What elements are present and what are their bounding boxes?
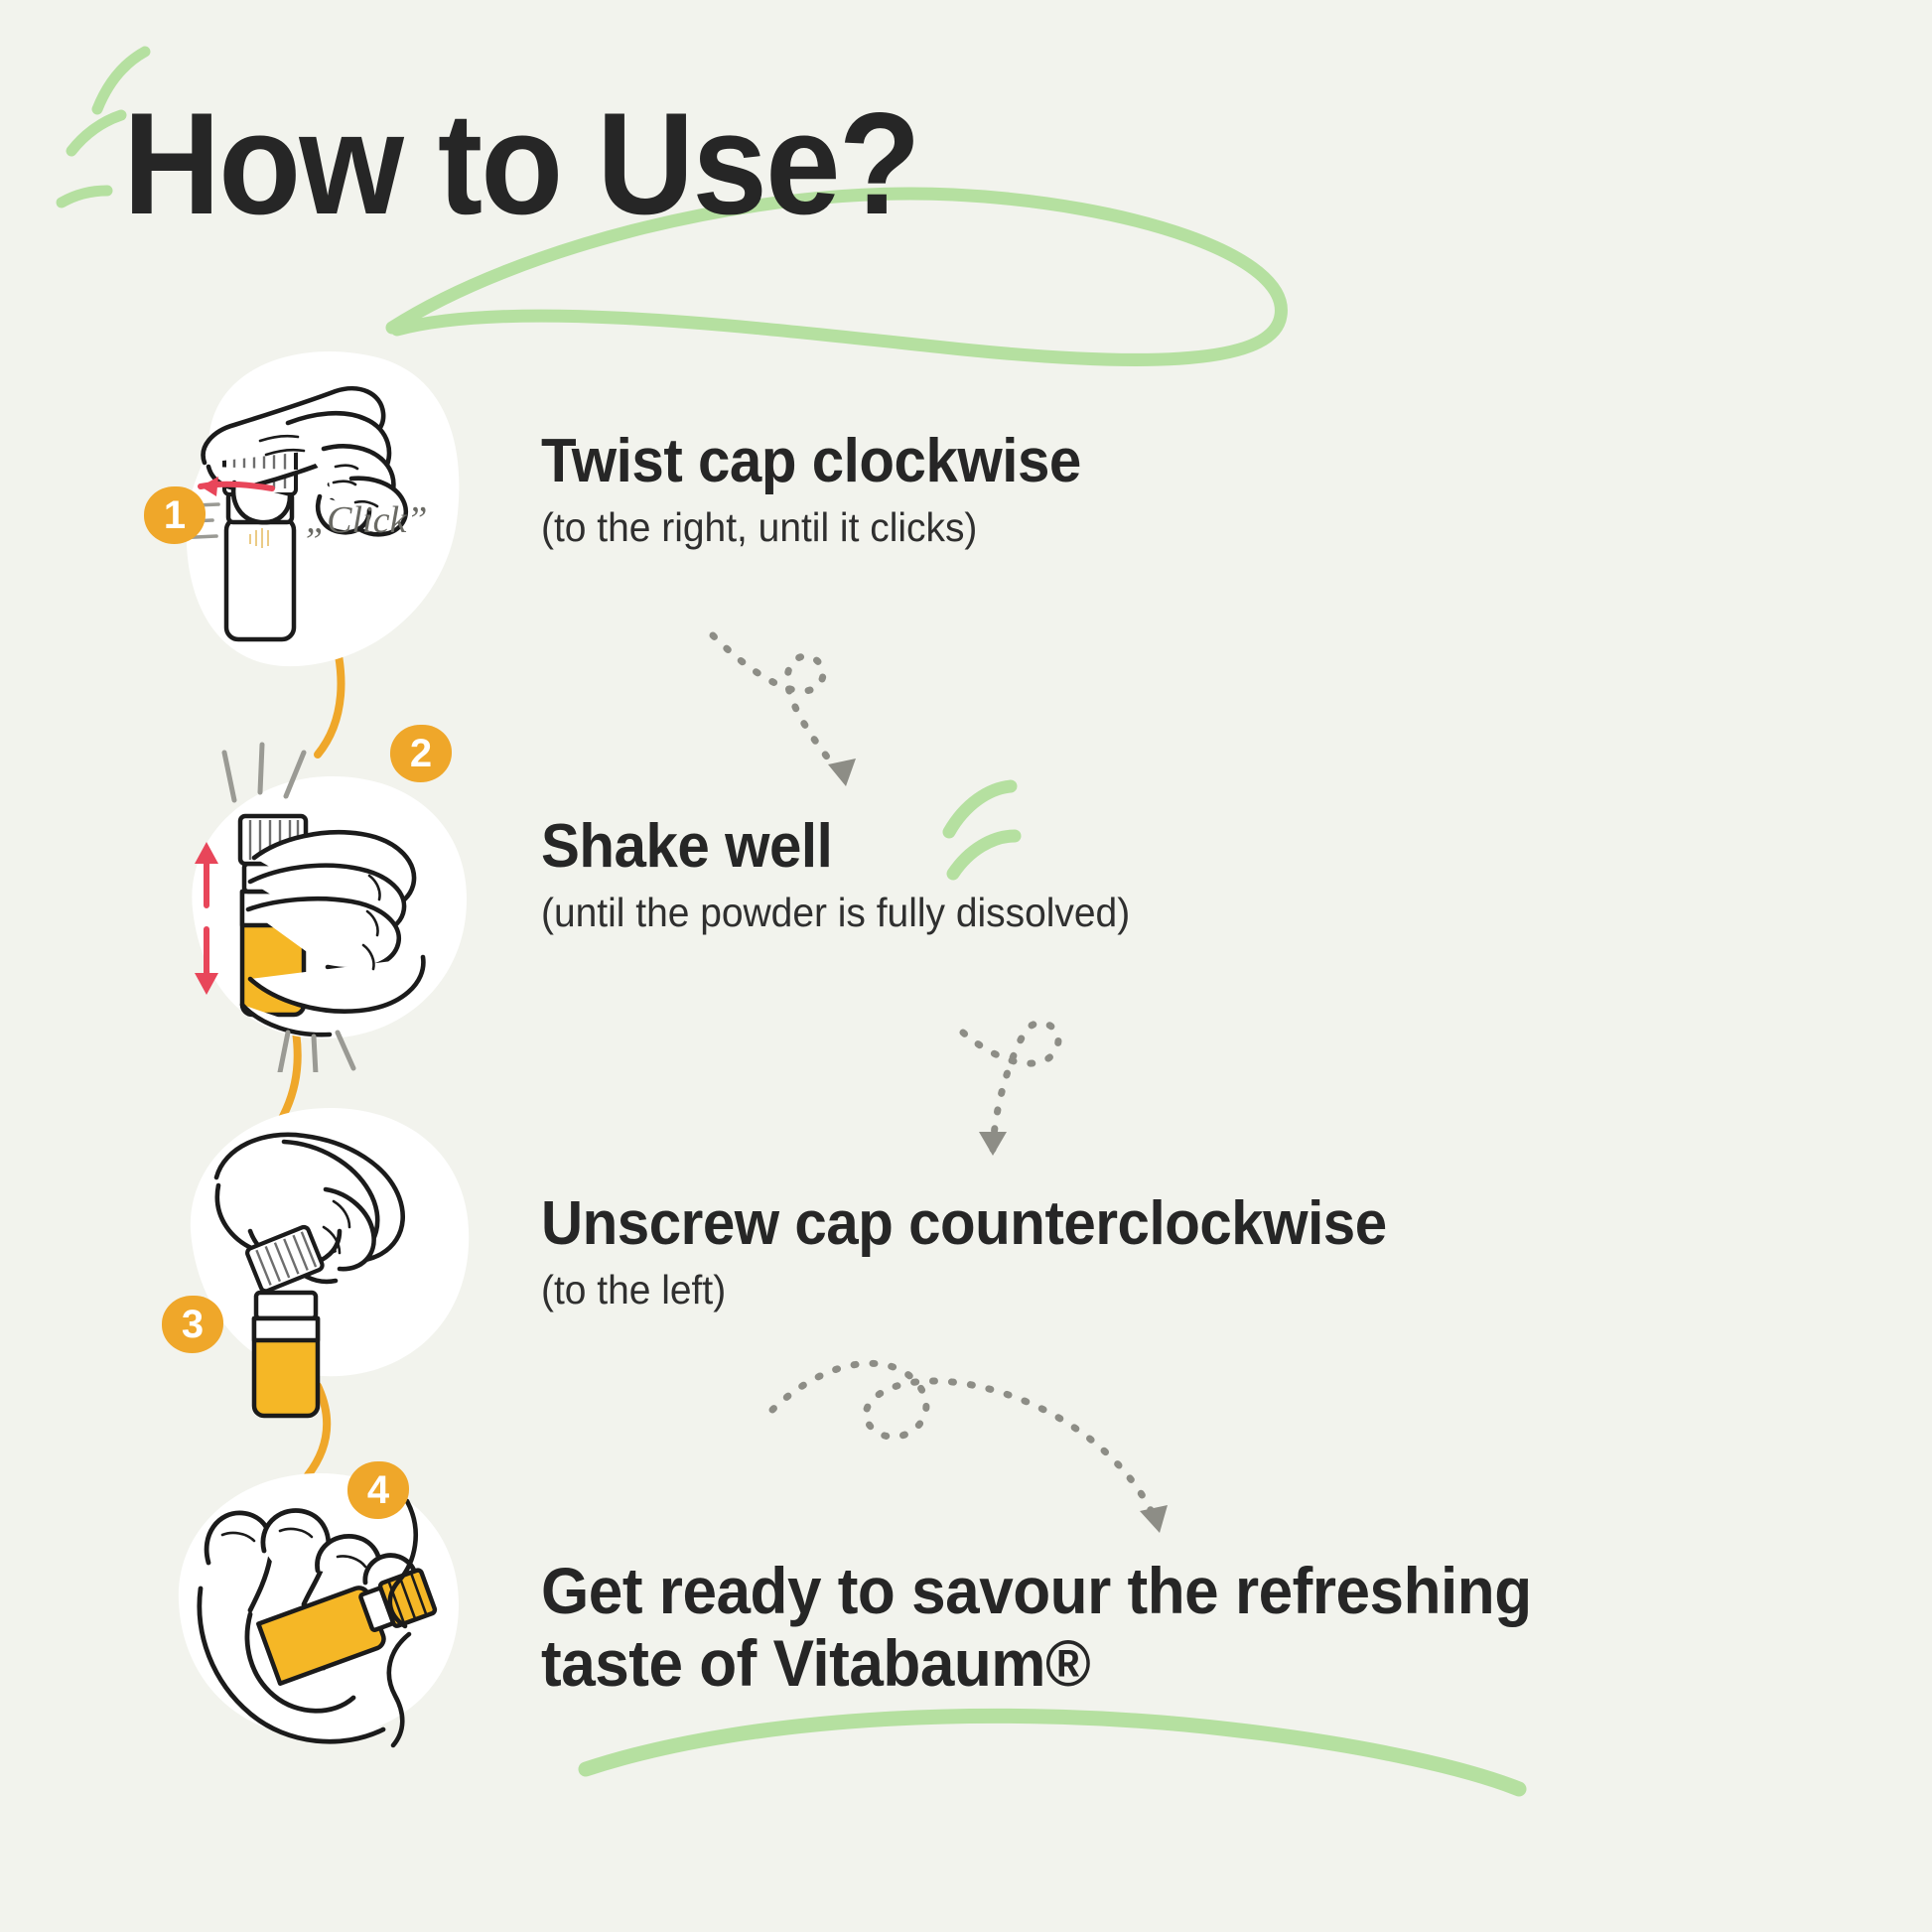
green-swoosh-underline bbox=[586, 1716, 1519, 1789]
hand-unscrewing-cap-illustration bbox=[139, 1082, 477, 1449]
infographic-page: „Click” bbox=[0, 0, 1932, 1932]
step-subtitle-3: (to the left) bbox=[541, 1267, 1396, 1313]
dashed-loop-arrow bbox=[963, 1023, 1058, 1150]
hand-drinking-bottle-illustration bbox=[139, 1440, 477, 1767]
dashed-loop-arrow bbox=[713, 635, 846, 780]
step-badge-2: 2 bbox=[390, 725, 452, 782]
dashed-loop-arrow bbox=[772, 1363, 1158, 1527]
page-title: How to Use? bbox=[123, 91, 919, 236]
step-subtitle-1: (to the right, until it clicks) bbox=[541, 504, 1087, 551]
step-text-3: Unscrew cap counterclockwise (to the lef… bbox=[541, 1191, 1441, 1313]
hand-shaking-bottle-illustration bbox=[139, 735, 477, 1072]
step-badge-1: 1 bbox=[144, 486, 206, 544]
step-heading-3: Unscrew cap counterclockwise bbox=[541, 1191, 1387, 1257]
step-badge-3: 3 bbox=[162, 1296, 223, 1353]
step-text-4: Get ready to savour the refreshing taste… bbox=[541, 1555, 1663, 1699]
step-badge-4: 4 bbox=[347, 1461, 409, 1519]
step-text-1: Twist cap clockwise (to the right, until… bbox=[541, 429, 1116, 551]
step-heading-4: Get ready to savour the refreshing taste… bbox=[541, 1555, 1595, 1699]
step-heading-1: Twist cap clockwise bbox=[541, 429, 1081, 494]
step-text-2: Shake well (until the powder is fully di… bbox=[541, 814, 1161, 936]
step-heading-2: Shake well bbox=[541, 814, 1124, 880]
click-sound-label: „Click” bbox=[306, 499, 427, 541]
step-subtitle-2: (until the powder is fully dissolved) bbox=[541, 890, 1130, 936]
